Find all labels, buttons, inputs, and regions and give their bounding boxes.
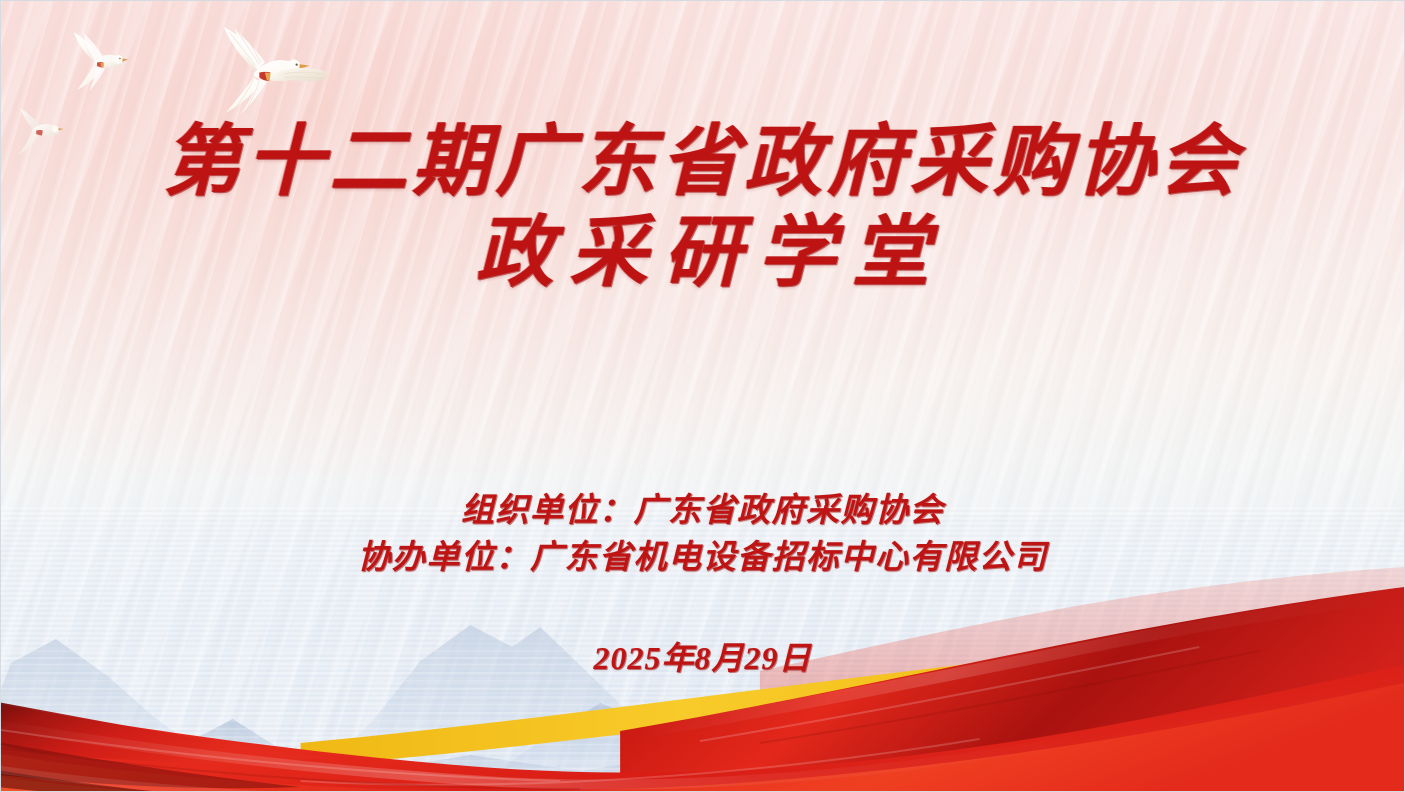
presentation-slide: 第十二期广东省政府采购协会 政采研学堂 组织单位：广东省政府采购协会 协办单位：… (0, 0, 1405, 792)
title-line-1: 第十二期广东省政府采购协会 (1, 122, 1404, 202)
dove-medium-upper-left-icon (56, 29, 138, 97)
dove-large-center-icon (194, 25, 334, 117)
co-organizer-line: 协办单位：广东省机电设备招标中心有限公司 (1, 535, 1404, 582)
slide-title: 第十二期广东省政府采购协会 政采研学堂 (1, 122, 1404, 294)
organizer-line: 组织单位：广东省政府采购协会 (1, 488, 1404, 535)
event-date: 2025年8月29日 (1, 633, 1404, 679)
title-line-2: 政采研学堂 (1, 213, 1404, 293)
date-text: 2025年8月29日 (1, 633, 1404, 679)
organizer-info: 组织单位：广东省政府采购协会 协办单位：广东省机电设备招标中心有限公司 (1, 488, 1404, 582)
